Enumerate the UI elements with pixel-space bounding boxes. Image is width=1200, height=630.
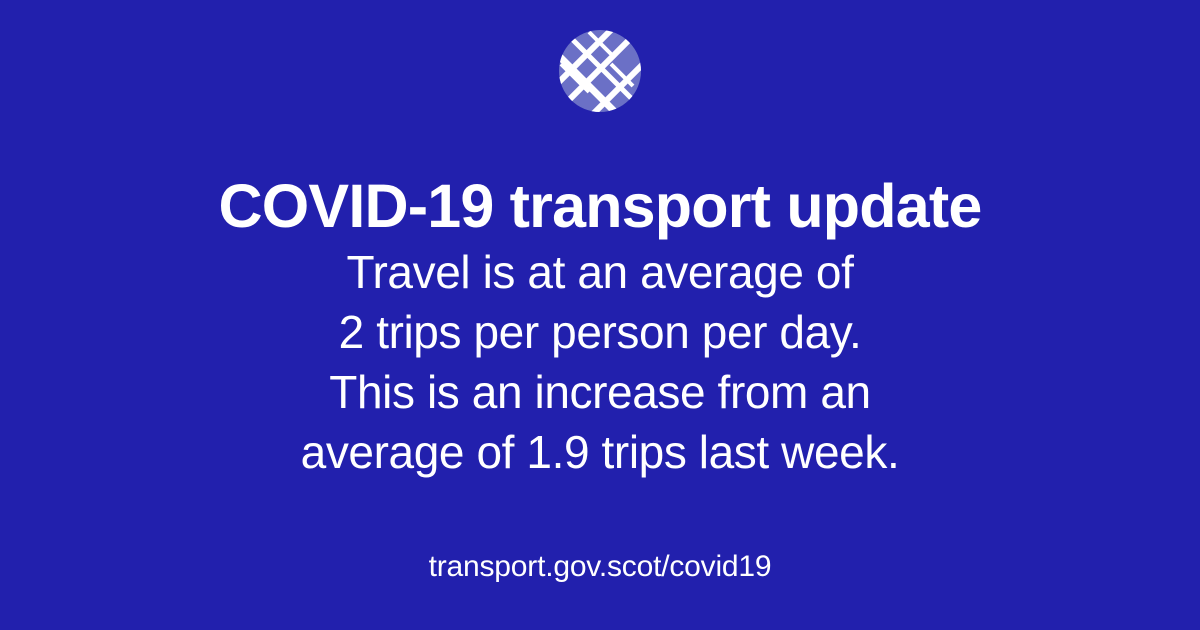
message-line-3: This is an increase from an (0, 362, 1200, 422)
update-message: Travel is at an average of 2 trips per p… (0, 242, 1200, 482)
message-line-2: 2 trips per person per day. (0, 302, 1200, 362)
transport-scotland-roads-circle-icon (559, 30, 641, 112)
source-url[interactable]: transport.gov.scot/covid19 (0, 548, 1200, 586)
message-line-4: average of 1.9 trips last week. (0, 422, 1200, 482)
page-title: COVID-19 transport update (0, 170, 1200, 242)
message-line-1: Travel is at an average of (0, 242, 1200, 302)
covid-transport-update-card: COVID-19 transport update Travel is at a… (0, 0, 1200, 630)
